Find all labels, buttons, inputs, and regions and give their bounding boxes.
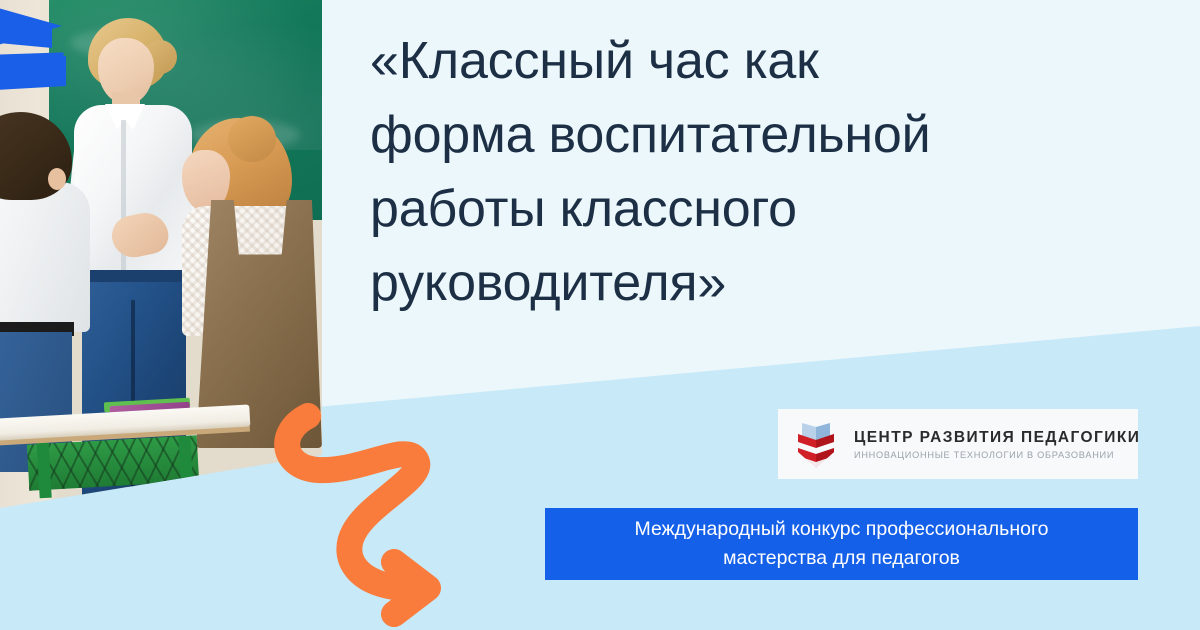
title-line-3: работы классного: [370, 172, 1180, 246]
page-title: «Классный час как форма воспитательной р…: [370, 24, 1180, 320]
poster-canvas: «Классный час как форма воспитательной р…: [0, 0, 1200, 630]
logo-text-block: ЦЕНТР РАЗВИТИЯ ПЕДАГОГИКИ ИННОВАЦИОННЫЕ …: [854, 429, 1140, 460]
photo-teacher-blouse: [74, 105, 192, 285]
orange-curved-arrow-icon: [266, 398, 496, 628]
photo-boy-shirt: [0, 182, 90, 332]
organization-logo-card: ЦЕНТР РАЗВИТИЯ ПЕДАГОГИКИ ИННОВАЦИОННЫЕ …: [778, 409, 1138, 479]
contest-banner-line-1: Международный конкурс профессионального: [635, 518, 1049, 540]
open-book-shield-icon: [792, 418, 840, 470]
logo-tagline: ИННОВАЦИОННЫЕ ТЕХНОЛОГИИ В ОБРАЗОВАНИИ: [854, 450, 1140, 460]
contest-banner-line-2: мастерства для педагогов: [723, 547, 960, 569]
photo-boy-ear: [48, 168, 66, 190]
contest-banner-text: Международный конкурс профессионального …: [635, 515, 1049, 573]
title-line-1: «Классный час как: [370, 24, 1180, 98]
title-line-2: форма воспитательной: [370, 98, 1180, 172]
logo-organization-name: ЦЕНТР РАЗВИТИЯ ПЕДАГОГИКИ: [854, 429, 1140, 447]
photo-girl-bun: [228, 116, 276, 162]
contest-banner: Международный конкурс профессионального …: [545, 508, 1138, 580]
photo-teacher-waistband: [82, 270, 186, 282]
blue-zigzag-chevron-icon: [0, 0, 116, 108]
title-line-4: руководителя»: [370, 246, 1180, 320]
